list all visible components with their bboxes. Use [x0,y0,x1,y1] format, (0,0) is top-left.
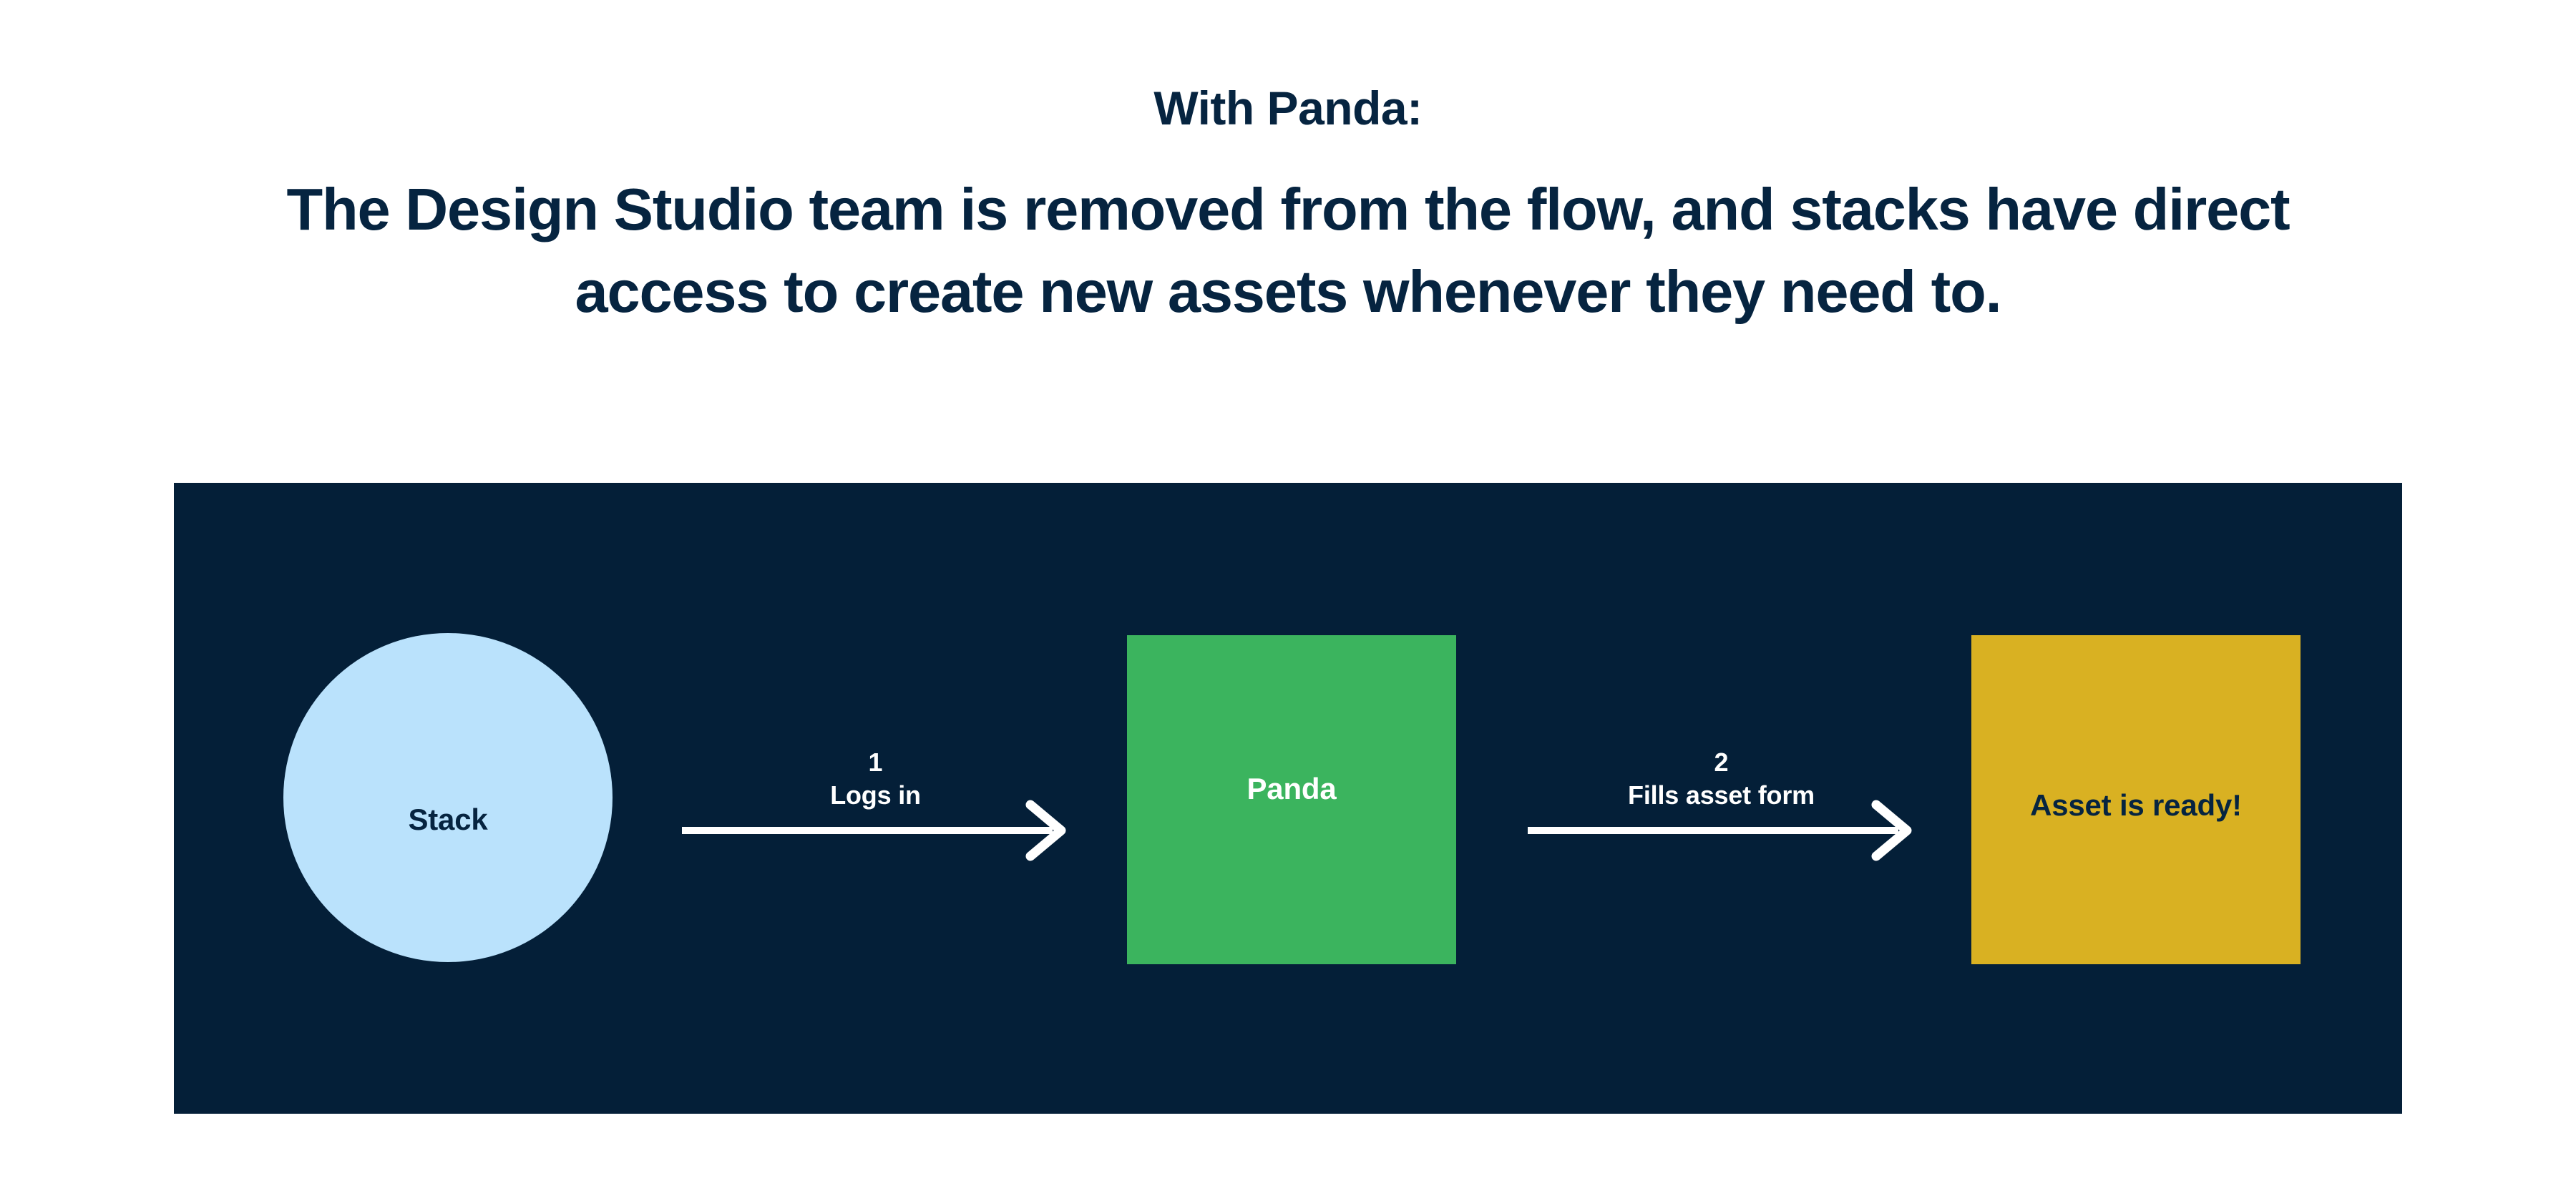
diagram-node-panda-label: Panda [1246,772,1336,806]
diagram-edge-2-step-number: 2 [1526,749,1916,776]
page-title: With Panda: [0,0,2576,132]
diagram-node-asset[interactable]: Asset is ready! [1971,635,2301,964]
page-subtitle: The Design Studio team is removed from t… [208,132,2368,333]
arrow-right-icon [1526,798,1916,849]
arrow-right-icon [680,798,1070,849]
diagram-node-asset-label: Asset is ready! [2030,788,2242,823]
diagram-edge-1-step-number: 1 [680,749,1070,776]
diagram-node-panda[interactable]: Panda [1127,635,1456,964]
diagram-edge-1: 1 Logs in [680,749,1070,849]
slide-canvas: With Panda: The Design Studio team is re… [0,0,2576,1201]
diagram-node-stack[interactable]: Stack [283,633,613,962]
diagram-panel: Stack 1 Logs in Panda 2 Fills asset form [174,483,2402,1114]
heading-block: With Panda: The Design Studio team is re… [0,0,2576,333]
diagram-edge-2: 2 Fills asset form [1526,749,1916,849]
diagram-node-stack-label: Stack [408,803,487,837]
